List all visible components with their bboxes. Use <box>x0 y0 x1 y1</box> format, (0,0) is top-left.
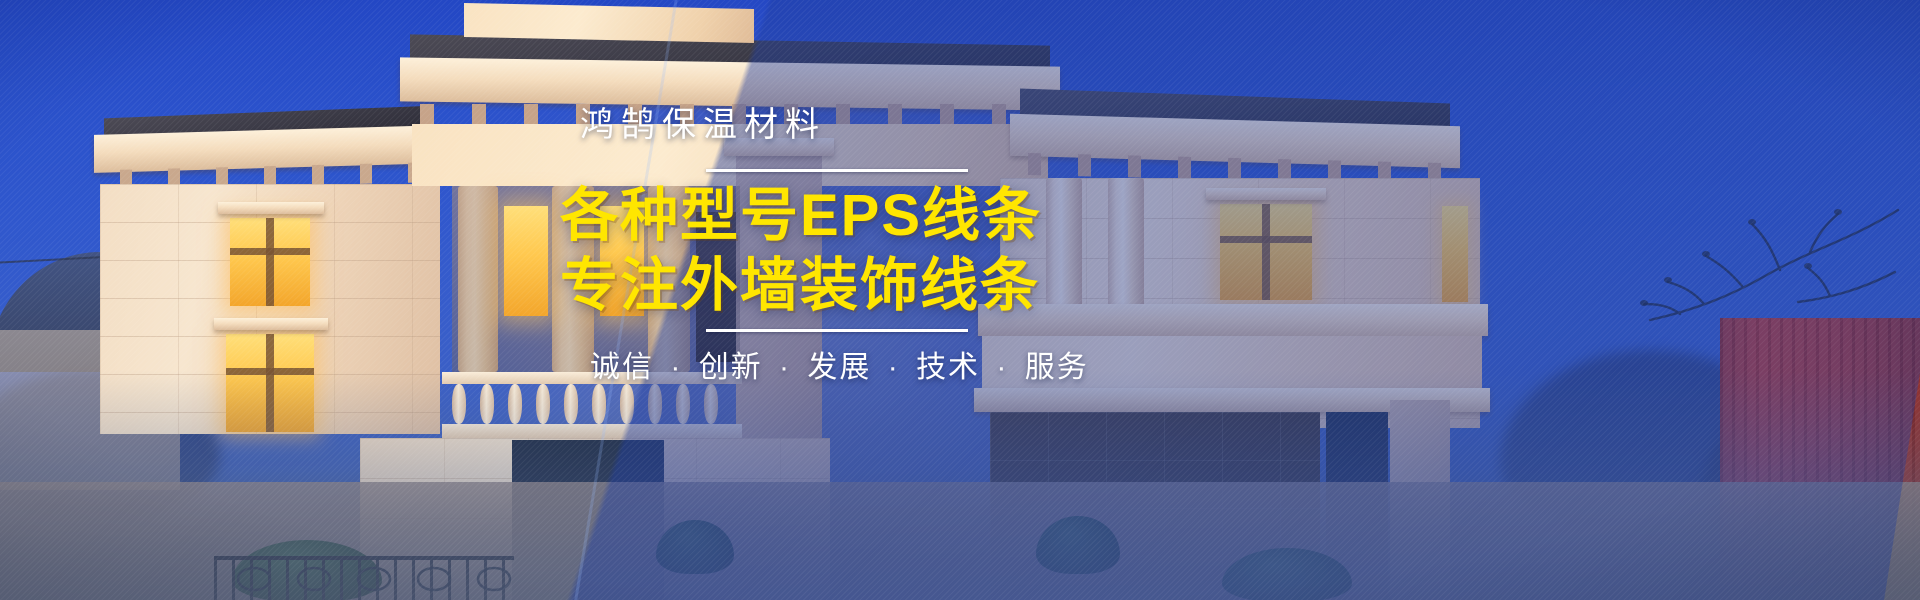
window-left-upper-hood <box>218 202 324 214</box>
headline-line-2: 专注外墙装饰线条 <box>560 256 1120 317</box>
divider-upper <box>706 169 968 172</box>
tagline-item-4: 服务 <box>1025 351 1089 384</box>
window-left-lower-hood <box>214 318 328 330</box>
brand-kicker: 鸿鹄保温材料 <box>580 104 1120 147</box>
promo-banner: 鸿鹄保温材料 各种型号EPS线条 专注外墙装饰线条 诚信 · 创新 · 发展 ·… <box>0 0 1920 600</box>
tagline-separator-0: · <box>664 351 688 384</box>
tagline-separator-2: · <box>882 351 906 384</box>
headline-line-1: 各种型号EPS线条 <box>560 186 1120 247</box>
window-right-upper-hood <box>1206 188 1326 200</box>
window-right-edge <box>1442 206 1468 302</box>
tagline-item-2: 发展 <box>807 351 871 384</box>
window-right-upper-mullion-v <box>1262 204 1270 300</box>
window-left-upper-mullion-h <box>230 248 310 255</box>
horizon-haze <box>0 370 1920 600</box>
tagline-separator-3: · <box>990 351 1014 384</box>
loggia-window-1 <box>504 206 548 316</box>
parapet-center <box>464 3 754 43</box>
window-left-upper-mullion-v <box>266 218 274 306</box>
divider-lower <box>706 329 968 332</box>
tagline-item-3: 技术 <box>916 351 980 384</box>
tagline-separator-1: · <box>773 351 797 384</box>
tagline-item-1: 创新 <box>699 351 763 384</box>
tagline-item-0: 诚信 <box>590 351 654 384</box>
window-right-upper-mullion-h <box>1220 236 1312 243</box>
tagline: 诚信 · 创新 · 发展 · 技术 · 服务 <box>590 348 1120 387</box>
banner-copy-inner: 鸿鹄保温材料 各种型号EPS线条 专注外墙装饰线条 诚信 · 创新 · 发展 ·… <box>560 104 1120 387</box>
cornice-center <box>400 57 1060 110</box>
